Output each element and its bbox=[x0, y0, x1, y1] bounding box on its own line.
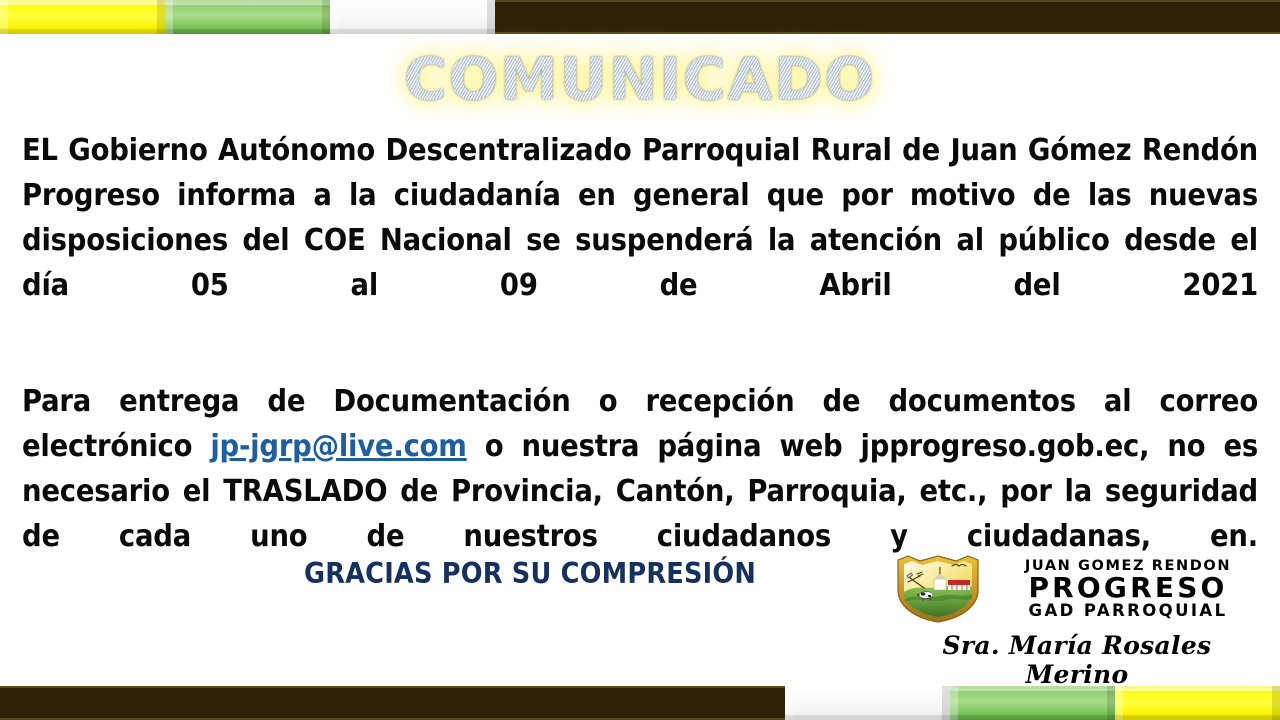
announcement-text: EL Gobierno Autónomo Descentralizado Par… bbox=[22, 133, 1258, 303]
paragraph-announcement: EL Gobierno Autónomo Descentralizado Par… bbox=[22, 128, 1258, 353]
bevel-right bbox=[1107, 686, 1115, 720]
banner-block-green bbox=[950, 686, 1115, 720]
logo-text-block: JUAN GOMEZ RENDON PROGRESO GAD PARROQUIA… bbox=[986, 559, 1264, 620]
logo-line-gad-parroquial: GAD PARROQUIAL bbox=[992, 603, 1264, 620]
bevel-right bbox=[1272, 686, 1280, 720]
signature-name: Sra. María Rosales Merino bbox=[890, 631, 1264, 689]
bevel-left bbox=[785, 686, 793, 720]
top-decorative-banner bbox=[0, 0, 1280, 34]
bevel-left bbox=[165, 0, 173, 34]
bevel-left bbox=[950, 686, 958, 720]
logo-line-progreso: PROGRESO bbox=[992, 574, 1264, 602]
coat-of-arms-shield-icon bbox=[890, 554, 986, 624]
seal-row: JUAN GOMEZ RENDON PROGRESO GAD PARROQUIA… bbox=[890, 552, 1264, 626]
title-container: COMUNICADO bbox=[0, 50, 1280, 108]
bevel-left bbox=[330, 0, 338, 34]
bevel-left bbox=[1115, 686, 1123, 720]
banner-block-yellow bbox=[0, 0, 165, 34]
bevel-right bbox=[157, 0, 165, 34]
page-title: COMUNICADO bbox=[404, 50, 876, 108]
email-link[interactable]: jp-jgrp@live.com bbox=[210, 429, 466, 464]
document-body: EL Gobierno Autónomo Descentralizado Par… bbox=[22, 128, 1258, 604]
organization-logo-block: JUAN GOMEZ RENDON PROGRESO GAD PARROQUIA… bbox=[890, 552, 1264, 682]
banner-block-brown bbox=[495, 0, 1280, 34]
bevel-right bbox=[322, 0, 330, 34]
banner-block-white bbox=[330, 0, 495, 34]
banner-block-green bbox=[165, 0, 330, 34]
bevel-left bbox=[0, 0, 8, 34]
bottom-decorative-banner bbox=[0, 686, 1280, 720]
banner-block-brown bbox=[0, 686, 785, 720]
closing-message: GRACIAS POR SU COMPRESIÓN bbox=[112, 557, 948, 590]
bevel-right bbox=[487, 0, 495, 34]
banner-block-yellow bbox=[1115, 686, 1280, 720]
bevel-right bbox=[942, 686, 950, 720]
banner-block-white bbox=[785, 686, 950, 720]
